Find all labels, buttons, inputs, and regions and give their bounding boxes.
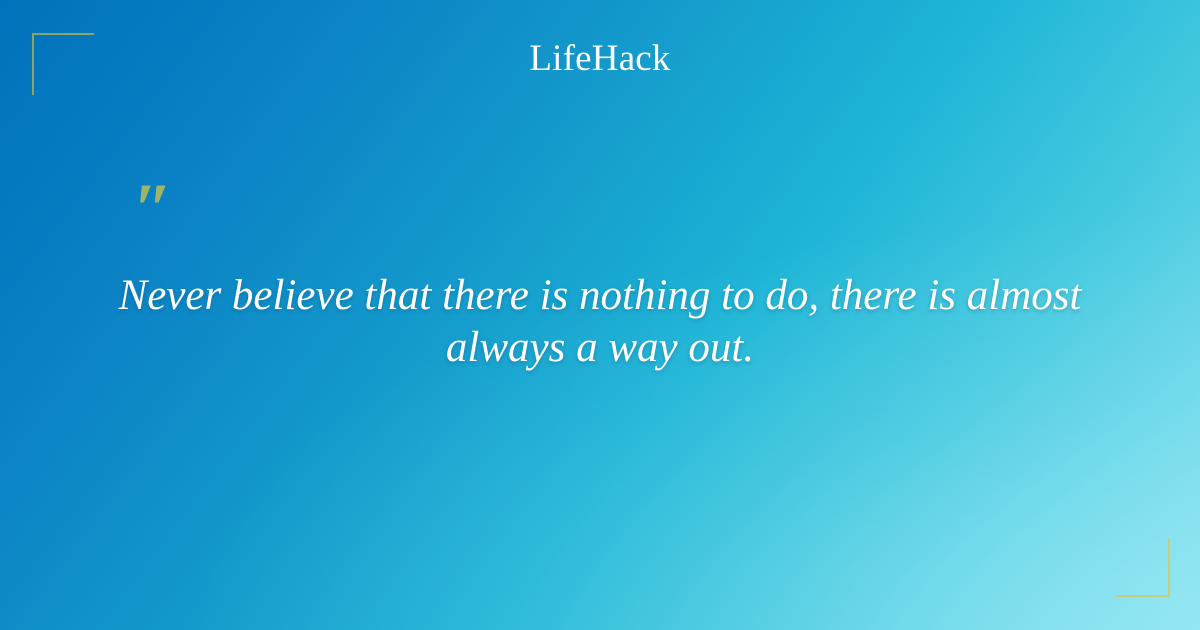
brand-header: LifeHack <box>0 40 1200 77</box>
quote-block: ″ Never believe that there is nothing to… <box>100 186 1100 374</box>
quote-mark-icon: ″ <box>133 186 1100 234</box>
quote-text: Never believe that there is nothing to d… <box>100 270 1100 375</box>
quote-card: LifeHack ″ Never believe that there is n… <box>0 0 1200 630</box>
corner-bracket-bottom-right-icon <box>1116 538 1170 597</box>
brand-logo-text: LifeHack <box>529 40 670 77</box>
